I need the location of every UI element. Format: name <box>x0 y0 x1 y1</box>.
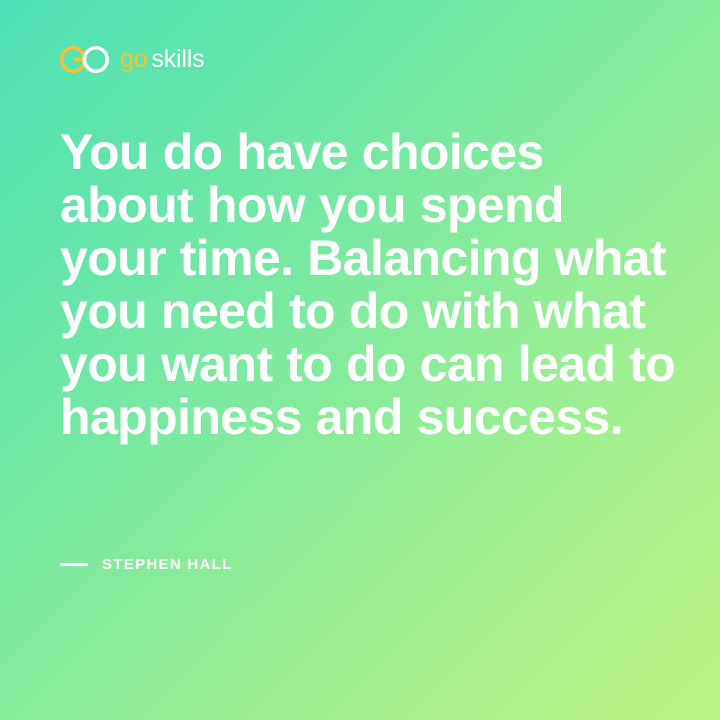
infinity-logo-icon <box>60 46 109 73</box>
quote-card: go skills You do have choices about how … <box>0 0 720 720</box>
brand-wordmark-go: go <box>120 47 147 72</box>
quote-text: You do have choices about how you spend … <box>60 126 680 444</box>
brand-logo[interactable]: go skills <box>60 42 204 76</box>
attribution: STEPHEN HALL <box>60 556 233 573</box>
attribution-dash-icon <box>60 563 88 566</box>
attribution-author: STEPHEN HALL <box>102 556 233 573</box>
brand-wordmark-skills: skills <box>151 47 204 72</box>
brand-wordmark: go skills <box>120 47 204 72</box>
